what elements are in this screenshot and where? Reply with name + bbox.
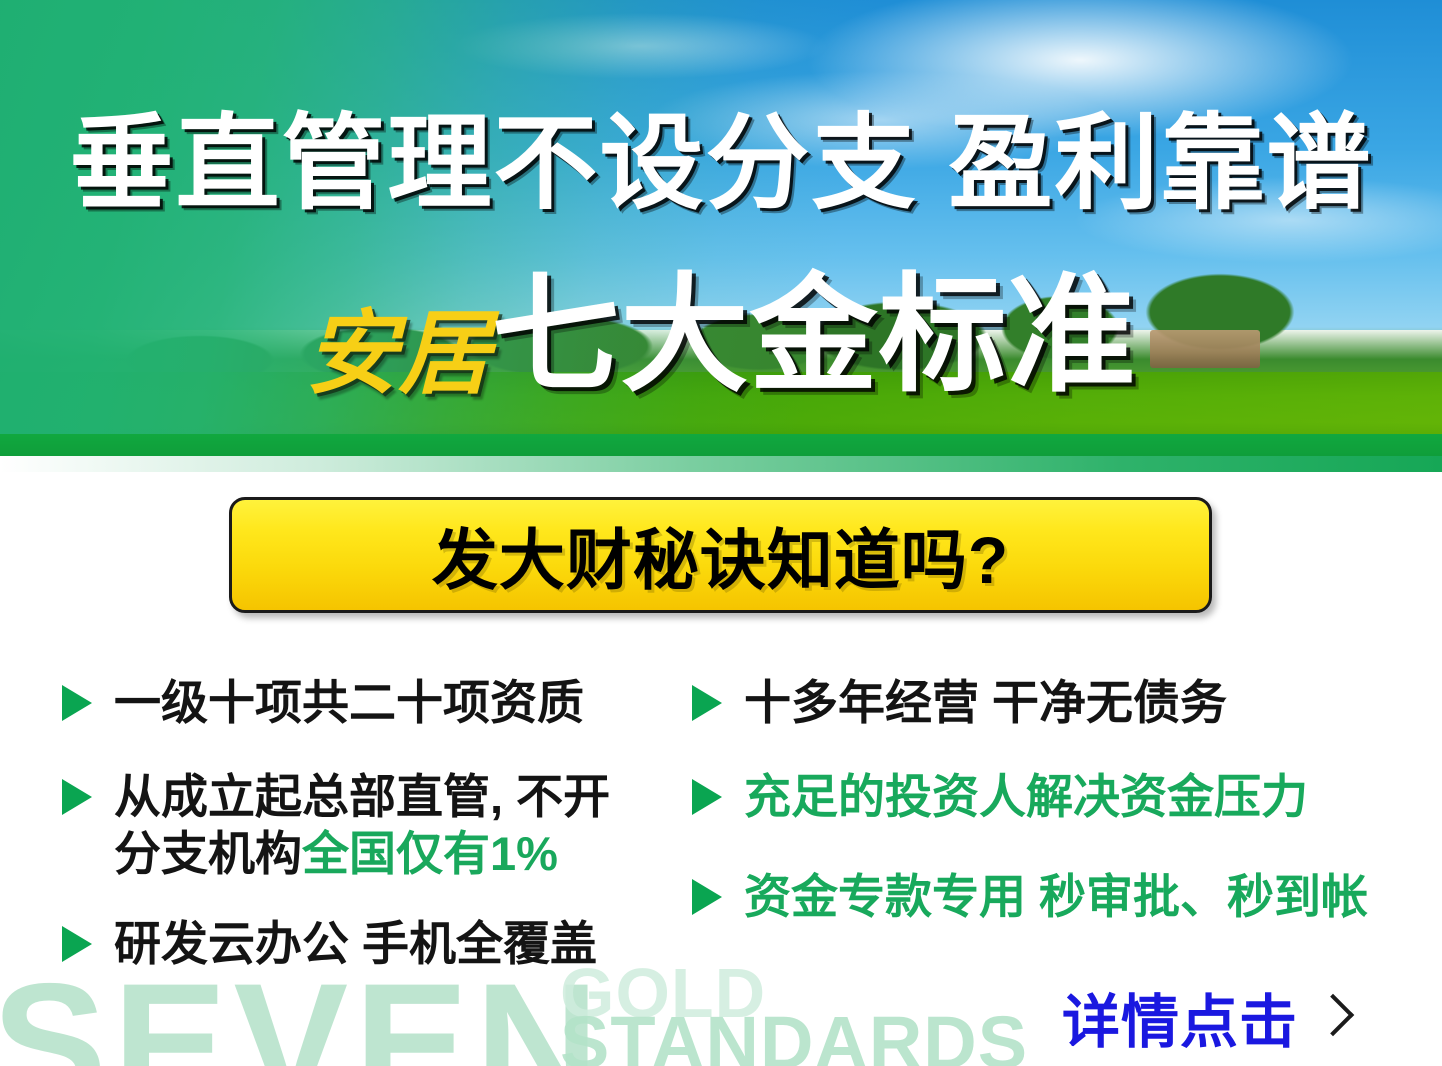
triangle-bullet-icon [62,685,92,721]
triangle-bullet-icon [692,879,722,915]
list-item: 十多年经营 干净无债务 [692,674,1227,731]
hero-brand-text: 安居 [305,303,491,405]
chevron-right-icon [1312,994,1354,1036]
list-item-text: 一级十项共二十项资质 [114,676,584,729]
promo-poster: 垂直管理不设分支 盈利靠谱 安居七大金标准 发大财秘诀知道吗? 一级十项共二十项… [0,0,1442,1066]
list-item-label: 充足的投资人解决资金压力 [744,768,1308,825]
feature-list: 一级十项共二十项资质 从成立起总部直管, 不开 分支机构全国仅有1% 研发云办公… [0,660,1442,1000]
triangle-bullet-icon [62,926,92,962]
question-banner[interactable]: 发大财秘诀知道吗? [229,497,1212,613]
list-item-label: 资金专款专用 秒审批、秒到帐 [744,868,1368,925]
hero-headline-secondary: 安居七大金标准 [0,272,1442,400]
details-cta-label: 详情点击 [1062,975,1298,1059]
hero-green-band [0,434,1442,456]
list-item: 从成立起总部直管, 不开 分支机构全国仅有1% [62,768,610,883]
question-banner-text: 发大财秘诀知道吗? [432,507,1009,603]
list-item: 一级十项共二十项资质 [62,674,584,731]
list-item-text-line2: 分支机构全国仅有1% [114,825,610,882]
triangle-bullet-icon [692,779,722,815]
list-item-text-part: 分支机构 [114,827,302,880]
list-item-highlight: 全国仅有1% [302,827,558,880]
list-item-text: 从成立起总部直管, 不开 [114,770,610,823]
list-item: 资金专款专用 秒审批、秒到帐 [692,868,1368,925]
hero-bottom-fade [0,456,1442,472]
hero-headline-primary: 垂直管理不设分支 盈利靠谱 [0,112,1442,216]
list-item-label: 研发云办公 手机全覆盖 [114,915,597,972]
list-item-label: 从成立起总部直管, 不开 分支机构全国仅有1% [114,768,610,883]
list-item-text: 研发云办公 手机全覆盖 [114,917,597,970]
hero-headline-main-text: 七大金标准 [492,264,1137,407]
list-item: 充足的投资人解决资金压力 [692,768,1308,825]
watermark-standards: STANDARDS [560,1006,1028,1066]
hero-banner: 垂直管理不设分支 盈利靠谱 安居七大金标准 [0,0,1442,456]
triangle-bullet-icon [692,685,722,721]
list-item: 研发云办公 手机全覆盖 [62,915,597,972]
details-cta-button[interactable]: 详情点击 [1062,975,1348,1059]
list-item-label: 一级十项共二十项资质 [114,674,584,731]
list-item-label: 十多年经营 干净无债务 [744,674,1227,731]
triangle-bullet-icon [62,779,92,815]
